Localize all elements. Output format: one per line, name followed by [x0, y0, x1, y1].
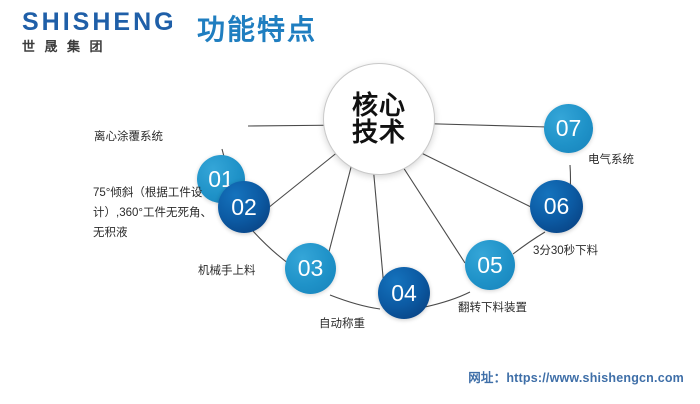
- logo-english-text: SHISHENG: [22, 10, 182, 35]
- node-label-06: 3分30秒下料: [533, 241, 598, 261]
- slide-canvas: SHISHENG 世晟集团 功能特点: [0, 0, 700, 404]
- footer-prefix-label: 网址：: [468, 371, 506, 385]
- node-number-06: 06: [544, 195, 570, 218]
- node-number-03: 03: [298, 257, 324, 280]
- node-circle-03[interactable]: 03: [285, 243, 336, 294]
- node-number-02: 02: [231, 196, 257, 219]
- node-circle-04[interactable]: 04: [378, 267, 430, 319]
- company-logo: SHISHENG 世晟集团: [22, 10, 182, 53]
- node-label-03: 机械手上料: [198, 261, 256, 281]
- node-number-07: 07: [556, 117, 582, 140]
- edge-03-04: [330, 295, 380, 309]
- center-hub: 核心 技术: [323, 63, 435, 175]
- website-footer: 网址：https://www.shishengcn.com: [468, 367, 684, 386]
- node-number-05: 05: [477, 254, 503, 277]
- node-circle-05[interactable]: 05: [465, 240, 515, 290]
- edge-center-03: [325, 152, 355, 267]
- node-label-02: 75°倾斜（根据工件设计）,360°工件无死角、无积液: [93, 183, 217, 243]
- node-label-04: 自动称重: [319, 314, 365, 334]
- node-number-04: 04: [391, 282, 417, 305]
- node-circle-02[interactable]: 02: [218, 181, 270, 233]
- node-label-01: 离心涂覆系统: [94, 127, 163, 147]
- hub-spoke-diagram: 核心 技术 01 02 03 04 05 06 07 离心涂覆系统 75°倾斜（…: [0, 55, 700, 345]
- page-title: 功能特点: [197, 16, 317, 44]
- node-circle-07[interactable]: 07: [544, 104, 593, 153]
- logo-chinese-text: 世晟集团: [22, 40, 182, 53]
- center-hub-text: 核心 技术: [352, 92, 406, 147]
- footer-url-link[interactable]: https://www.shishengcn.com: [506, 371, 684, 385]
- center-hub-line-2: 技术: [352, 119, 406, 146]
- center-hub-line-1: 核心: [352, 92, 406, 119]
- node-label-07: 电气系统: [588, 150, 634, 170]
- edge-center-02: [268, 147, 344, 208]
- node-label-05: 翻转下料装置: [458, 298, 527, 318]
- node-circle-06[interactable]: 06: [530, 180, 583, 233]
